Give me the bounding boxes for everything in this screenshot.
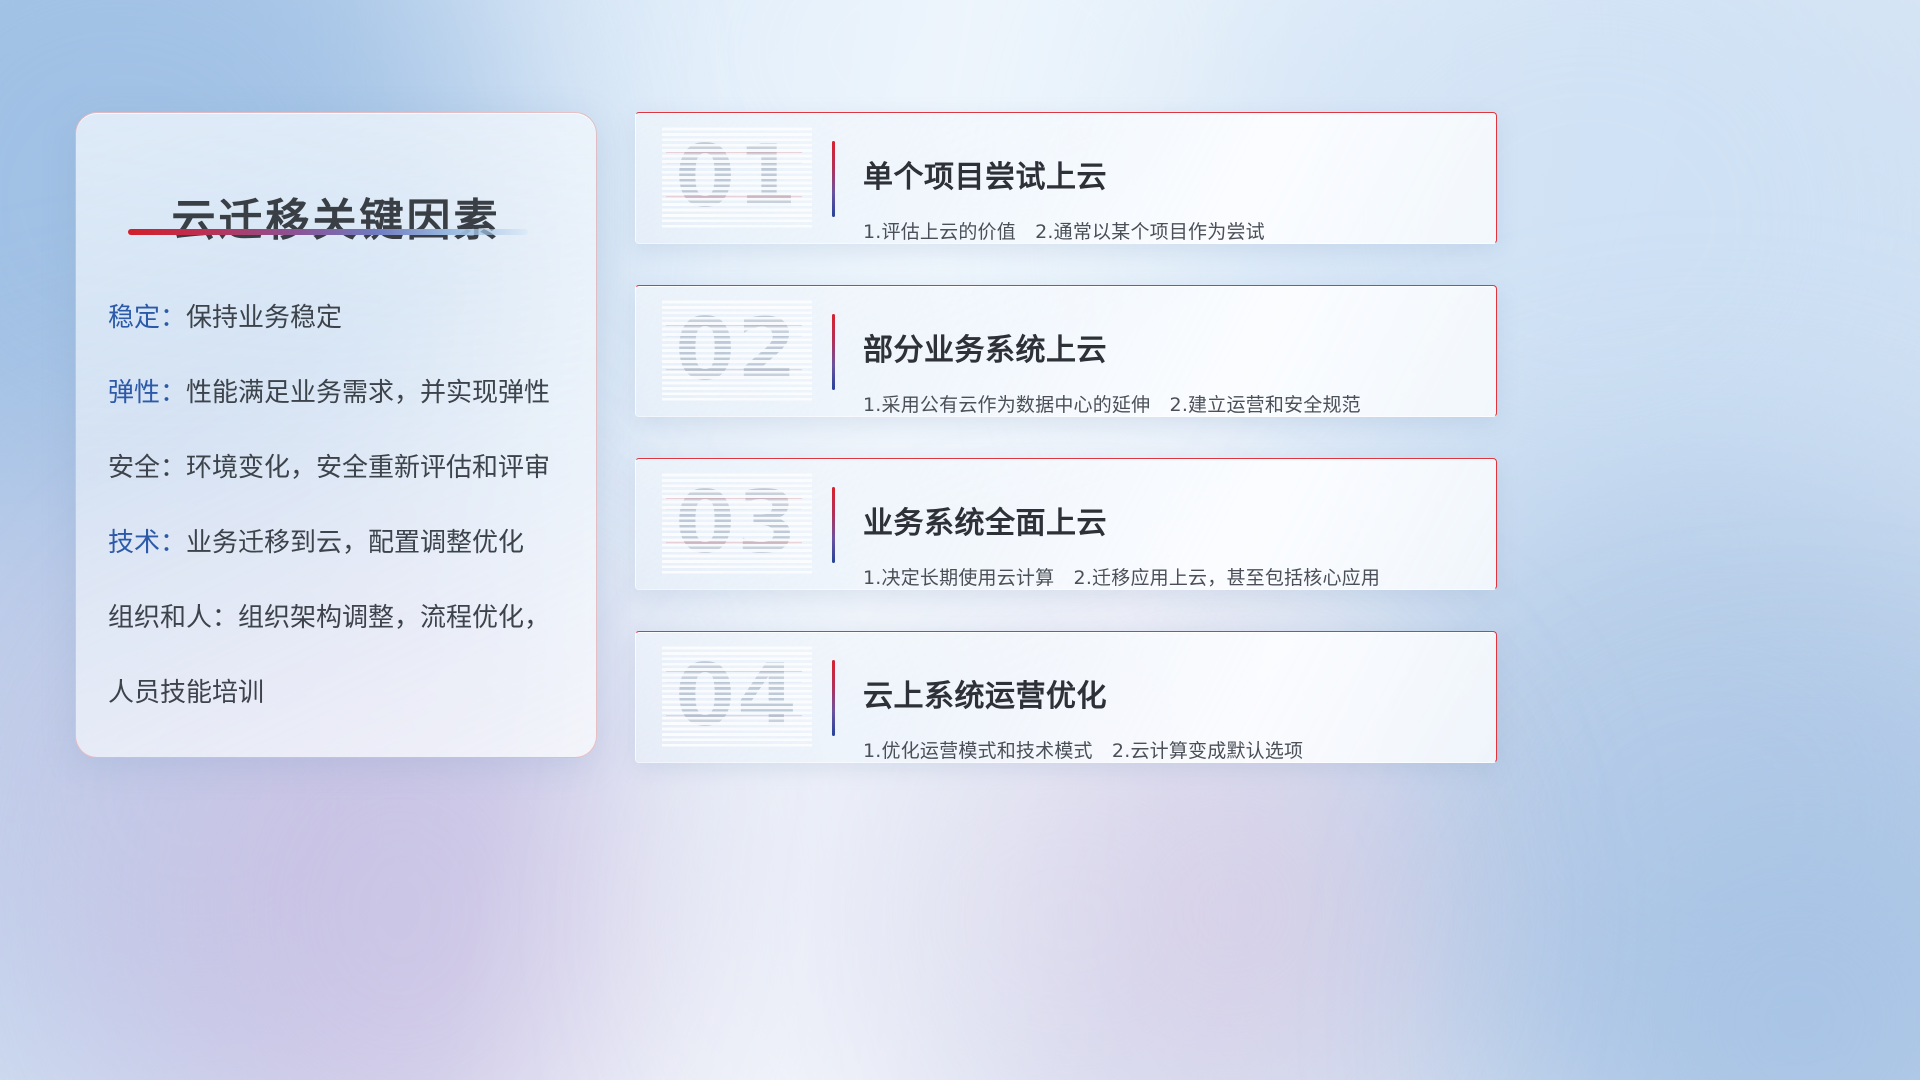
key-factors-list: 稳定：保持业务稳定 弹性：性能满足业务需求，并实现弹性 安全：环境变化，安全重新… [108,305,572,706]
title-underline-rule [128,229,528,235]
card-body: 部分业务系统上云 1.采用公有云作为数据中心的延伸 2.建立运营和安全规范 [863,308,1466,417]
stage-card-01[interactable]: 01 单个项目尝试上云 1.评估上云的价值 2.通常以某个项目作为尝试 [635,112,1497,244]
stage-number-accent-lines [666,314,802,388]
factor-text: 人员技能培训 [108,678,264,708]
list-item: 弹性：性能满足业务需求，并实现弹性 [108,380,572,406]
stage-number-stripe-overlay [662,644,812,748]
card-description: 1.决定长期使用云计算 2.迁移应用上云，甚至包括核心应用 [863,566,1466,590]
factor-label: 安全： [108,453,186,483]
stage-number-accent-lines [666,487,802,561]
factor-text: 保持业务稳定 [186,303,342,333]
card-description: 1.采用公有云作为数据中心的延伸 2.建立运营和安全规范 [863,393,1466,417]
list-item: 安全：环境变化，安全重新评估和评审 [108,455,572,481]
factor-text: 业务迁移到云，配置调整优化 [186,528,524,558]
factor-label: 弹性： [108,378,186,408]
key-factors-panel: 云迁移关键因素 稳定：保持业务稳定 弹性：性能满足业务需求，并实现弹性 安全：环… [75,112,597,758]
stage-number-stripe-overlay [662,298,812,402]
cloud-migration-stage-cards: 01 单个项目尝试上云 1.评估上云的价值 2.通常以某个项目作为尝试 02 部… [635,112,1497,763]
card-body: 业务系统全面上云 1.决定长期使用云计算 2.迁移应用上云，甚至包括核心应用 [863,481,1466,590]
card-divider-bar [832,314,835,390]
stage-card-02[interactable]: 02 部分业务系统上云 1.采用公有云作为数据中心的延伸 2.建立运营和安全规范 [635,285,1497,417]
stage-number-stripe-overlay [662,125,812,229]
factor-text: 性能满足业务需求，并实现弹性 [186,378,550,408]
stage-number-03: 03 [662,471,812,575]
card-title: 云上系统运营优化 [863,679,1466,714]
card-divider-bar [832,660,835,736]
factor-text: 环境变化，安全重新评估和评审 [186,453,550,483]
card-divider-bar [832,487,835,563]
slide-content: 云迁移关键因素 稳定：保持业务稳定 弹性：性能满足业务需求，并实现弹性 安全：环… [0,0,1920,1080]
list-item: 技术：业务迁移到云，配置调整优化 [108,530,572,556]
card-description: 1.评估上云的价值 2.通常以某个项目作为尝试 [863,220,1466,244]
card-body: 云上系统运营优化 1.优化运营模式和技术模式 2.云计算变成默认选项 [863,654,1466,763]
stage-number-04: 04 [662,644,812,748]
stage-card-04[interactable]: 04 云上系统运营优化 1.优化运营模式和技术模式 2.云计算变成默认选项 [635,631,1497,763]
stage-number-01: 01 [662,125,812,229]
stage-number-stripe-overlay [662,471,812,575]
card-description: 1.优化运营模式和技术模式 2.云计算变成默认选项 [863,739,1466,763]
card-divider-bar [832,141,835,217]
stage-number-accent-lines [666,141,802,215]
factor-text: 组织架构调整，流程优化， [238,603,550,633]
stage-number-accent-lines [666,660,802,734]
factor-label: 稳定： [108,303,186,333]
stage-card-03[interactable]: 03 业务系统全面上云 1.决定长期使用云计算 2.迁移应用上云，甚至包括核心应… [635,458,1497,590]
list-item: 稳定：保持业务稳定 [108,305,572,331]
list-item: 组织和人：组织架构调整，流程优化， [108,605,572,631]
card-title: 业务系统全面上云 [863,506,1466,541]
card-body: 单个项目尝试上云 1.评估上云的价值 2.通常以某个项目作为尝试 [863,135,1466,244]
list-item: 人员技能培训 [108,680,572,706]
card-title: 部分业务系统上云 [863,333,1466,368]
page-title: 云迁移关键因素 [76,184,596,248]
factor-label: 技术： [108,528,186,558]
stage-number-02: 02 [662,298,812,402]
factor-label: 组织和人： [108,603,238,633]
card-title: 单个项目尝试上云 [863,160,1466,195]
